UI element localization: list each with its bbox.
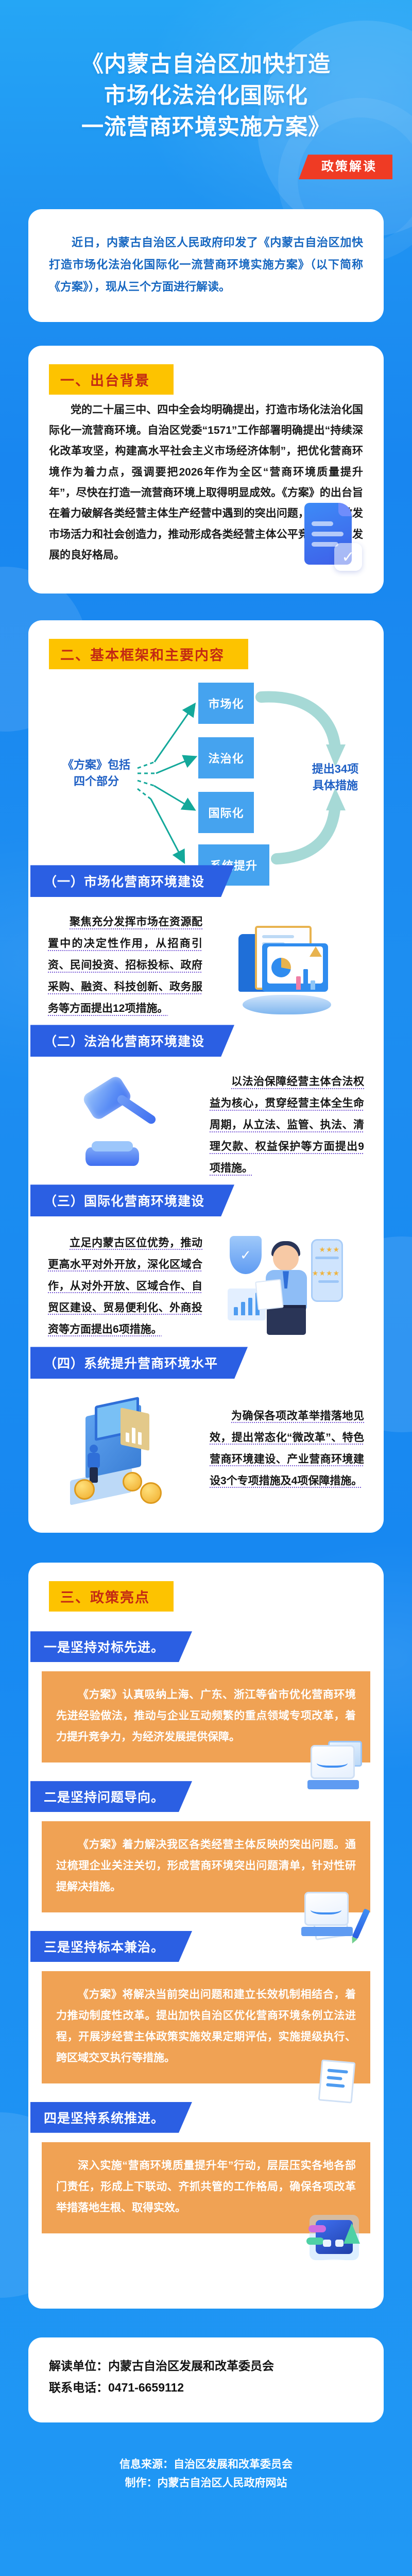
section-2-tag: 二、基本框架和主要内容	[49, 639, 248, 669]
highlight-heading-1: 一是坚持对标先进。	[30, 1631, 192, 1662]
diagram-box-rule-of-law: 法治化	[198, 737, 254, 778]
check-mark-icon: ✓	[334, 543, 362, 571]
highlight-block-4: 四是坚持系统推进。 深入实施“营商环境质量提升年”行动，层层压实各地各部门责任，…	[28, 2088, 384, 2238]
subsection-text-marketization: 聚焦充分发挥市场在资源配置中的决定性作用，从招商引资、民间投资、招标投标、政府采…	[48, 911, 202, 1020]
chart-bar	[248, 1298, 252, 1315]
source-line: 信息来源：自治区发展和改革委员会	[0, 2455, 412, 2475]
chart-bar	[234, 1307, 238, 1315]
scroll-base-strip	[307, 1780, 359, 1789]
person-shield-illustration: ★★★ ★★★★ ✓	[228, 1231, 346, 1342]
diagram-left-label: 《方案》包括四个部分	[55, 757, 138, 790]
diagram-right-label: 提出34项具体措施	[301, 761, 369, 794]
subsection-heading-internationalization: （三）国际化营商环境建设	[30, 1184, 234, 1216]
highlight-text-3: 《方案》将解决当前突出问题和建立长效机制相结合，着力推动制度性改革。提出加快自治…	[42, 1971, 370, 2083]
badge-row: 政策解读	[0, 155, 412, 184]
framework-diagram: 《方案》包括四个部分 市场化 法治化 国际化 系统提升 提出34项具体措施	[28, 680, 384, 865]
kiosk-coins-illustration	[65, 1393, 186, 1504]
section-1-tag: 一、出台背景	[49, 364, 174, 395]
intro-paragraph: 近日，内蒙古自治区人民政府印发了《内蒙古自治区加快打造市场化法治化国际化一流营商…	[49, 232, 363, 298]
footer-contact-card: 解读单位：内蒙古自治区发展和改革委员会 联系电话：0471-6659112	[28, 2337, 384, 2422]
chart-bar	[241, 1302, 245, 1315]
person-head-shape	[90, 1445, 98, 1453]
page-title: 《内蒙古自治区加快打造 市场化法治化国际化 一流营商环境实施方案》	[21, 49, 391, 143]
highlight-heading-4: 四是坚持系统推进。	[30, 2102, 192, 2133]
highlight-text-1: 《方案》认真吸纳上海、广东、浙江等省市优化营商环境先进经验做法，推动与企业互动频…	[42, 1671, 370, 1762]
highlight-block-2: 二是坚持问题导向。 《方案》着力解决我区各类经营主体反映的突出问题。通过梳理企业…	[28, 1767, 384, 1917]
section-highlights-card: 三、政策亮点 一是坚持对标先进。 《方案》认真吸纳上海、广东、浙江等省市优化营商…	[28, 1563, 384, 2308]
growth-arrow-icon	[310, 946, 322, 957]
producer-line: 制作：内蒙古自治区人民政府网站	[0, 2474, 412, 2493]
scroll-base-strip	[301, 1927, 353, 1936]
source-credit-bar: 信息来源：自治区发展和改革委员会 制作：内蒙古自治区人民政府网站	[0, 2455, 412, 2555]
highlight-block-1: 一是坚持对标先进。 《方案》认真吸纳上海、广东、浙江等省市优化营商环境先进经验做…	[28, 1617, 384, 1767]
highlight-text-2: 《方案》着力解决我区各类经营主体反映的突出问题。通过梳理企业关注关切，形成营商环…	[42, 1821, 370, 1912]
gavel-sound-block-shape	[85, 1147, 139, 1166]
paper-line	[262, 935, 294, 938]
document-text-line	[312, 521, 333, 526]
diagram-box-marketization: 市场化	[198, 683, 254, 724]
coin-icon	[140, 1482, 162, 1504]
bar-chart-bar	[296, 976, 301, 990]
shield-check-icon: ✓	[230, 1236, 262, 1274]
chart-bar	[138, 1432, 142, 1445]
bar-chart-bar	[303, 969, 308, 990]
gavel-handle-shape	[116, 1094, 158, 1126]
person-pants-shape	[267, 1308, 306, 1335]
document-text-line	[312, 532, 344, 536]
subsection-heading-system-upgrade: （四）系统提升营商环境水平	[30, 1347, 248, 1379]
person-body-shape	[88, 1453, 100, 1468]
gavel-illustration	[76, 1076, 174, 1174]
page-header: 《内蒙古自治区加快打造 市场化法治化国际化 一流营商环境实施方案》	[0, 0, 412, 143]
star-rating-icon: ★★★★	[312, 1269, 340, 1278]
subsection-body-system-upgrade: 为确保各项改革举措落地见效，提出常态化“微改革”、特色营商环境建设、产业营商环境…	[28, 1379, 384, 1509]
bar-chart-bar	[311, 980, 315, 990]
folder-chart-illustration	[230, 917, 344, 1014]
document-text-line	[312, 542, 338, 547]
subsection-body-rule-of-law: 以法治保障经营主体合法权益为核心，贯穿经营主体全生命周期，从立法、监管、执法、清…	[28, 1057, 384, 1184]
highlight-heading-3: 三是坚持标本兼治。	[30, 1931, 192, 1962]
kiosk-chart-paper	[121, 1408, 149, 1451]
coin-icon	[74, 1479, 95, 1500]
highlight-heading-2: 二是坚持问题导向。	[30, 1781, 192, 1812]
subsection-body-marketization: 聚焦充分发挥市场在资源配置中的决定性作用，从招商引资、民间投资、招标投标、政府采…	[28, 897, 384, 1025]
person-holding-document	[255, 1279, 284, 1311]
document-fold-corner	[338, 503, 352, 516]
highlight-block-3: 三是坚持标本兼治。 《方案》将解决当前突出问题和建立长效机制相结合，着力推动制度…	[28, 1917, 384, 2088]
infographic-page: 《内蒙古自治区加快打造 市场化法治化国际化 一流营商环境实施方案》 政策解读 近…	[0, 0, 412, 2576]
person-head-shape	[273, 1245, 299, 1271]
contact-phone-line: 联系电话：0471-6659112	[49, 2377, 363, 2399]
subsection-heading-marketization: （一）市场化营商环境建设	[30, 865, 234, 897]
chart-bar	[126, 1432, 129, 1442]
subsection-text-system-upgrade: 为确保各项改革举措落地见效，提出常态化“微改革”、特色营商环境建设、产业营商环境…	[210, 1405, 364, 1492]
policy-interpretation-badge: 政策解读	[299, 155, 392, 179]
chart-bar	[132, 1428, 135, 1444]
page-title-line-2: 市场化法治化国际化	[21, 80, 391, 112]
page-title-line-3: 一流营商环境实施方案》	[21, 112, 391, 143]
page-title-line-1: 《内蒙古自治区加快打造	[21, 49, 391, 80]
coin-icon	[123, 1472, 142, 1492]
subsection-text-internationalization: 立足内蒙古区位优势，推动更高水平对外开放，深化区域合作，从对外开放、区域合作、自…	[48, 1232, 202, 1341]
star-rating-icon: ★★★	[319, 1245, 340, 1254]
diagram-box-internationalization: 国际化	[198, 792, 254, 833]
document-check-illustration: ✓	[304, 503, 366, 580]
section-framework-card: 二、基本框架和主要内容	[28, 620, 384, 1533]
highlight-text-4: 深入实施“营商环境质量提升年”行动，层层压实各地各部门责任，形成上下联动、齐抓共…	[42, 2142, 370, 2233]
section-3-tag: 三、政策亮点	[49, 1581, 174, 1612]
intro-card: 近日，内蒙古自治区人民政府印发了《内蒙古自治区加快打造市场化法治化国际化一流营商…	[28, 209, 384, 322]
interpreting-unit-line: 解读单位：内蒙古自治区发展和改革委员会	[49, 2355, 363, 2377]
section-background-card: 一、出台背景 党的二十届三中、四中全会均明确提出，打造市场化法治化国际化一流营商…	[28, 346, 384, 594]
subsection-heading-rule-of-law: （二）法治化营商环境建设	[30, 1025, 234, 1057]
subsection-text-rule-of-law: 以法治保障经营主体合法权益为核心，贯穿经营主体全生命周期，从立法、监管、执法、清…	[210, 1071, 364, 1179]
phone-text-line	[318, 1280, 339, 1283]
illustration-base-disc	[243, 995, 331, 1014]
phone-text-line	[315, 1257, 339, 1259]
person-legs-shape	[90, 1467, 98, 1483]
subsection-body-internationalization: 立足内蒙古区位优势，推动更高水平对外开放，深化区域合作，从对外开放、区域合作、自…	[28, 1216, 384, 1347]
